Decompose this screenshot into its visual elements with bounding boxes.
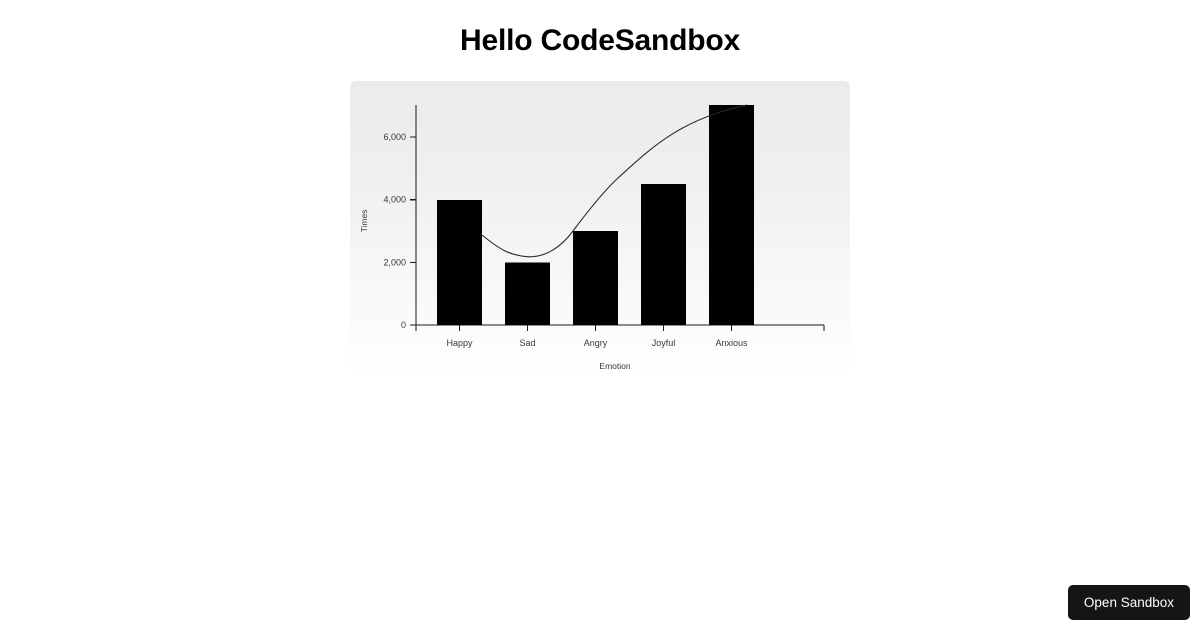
x-tick-label-anxious: Anxious — [715, 338, 748, 348]
y-axis-title: Times — [359, 210, 369, 233]
x-tick-label-joyful: Joyful — [652, 338, 676, 348]
emotion-bar-chart: 0 2,000 4,000 6,000 Times — [350, 81, 850, 375]
y-tick-label-4000: 4,000 — [383, 195, 406, 205]
page-title: Hello CodeSandbox — [0, 0, 1200, 58]
x-axis-title: Emotion — [599, 361, 630, 371]
bar-sad — [505, 263, 550, 326]
x-axis-ticks — [416, 325, 824, 331]
x-tick-label-angry: Angry — [584, 338, 608, 348]
y-tick-label-6000: 6,000 — [383, 132, 406, 142]
bar-group — [437, 105, 754, 325]
y-tick-label-0: 0 — [401, 320, 406, 330]
bar-joyful — [641, 184, 686, 325]
open-sandbox-button[interactable]: Open Sandbox — [1068, 585, 1190, 621]
x-axis-labels: Happy Sad Angry Joyful Anxious — [446, 338, 748, 348]
y-tick-label-2000: 2,000 — [383, 257, 406, 267]
bar-happy — [437, 200, 482, 325]
bar-anxious — [709, 105, 754, 325]
y-axis-ticks: 0 2,000 4,000 6,000 — [383, 132, 416, 330]
x-tick-label-sad: Sad — [519, 338, 535, 348]
bar-angry — [573, 231, 618, 325]
x-tick-label-happy: Happy — [446, 338, 473, 348]
chart-container: 0 2,000 4,000 6,000 Times — [350, 81, 850, 375]
